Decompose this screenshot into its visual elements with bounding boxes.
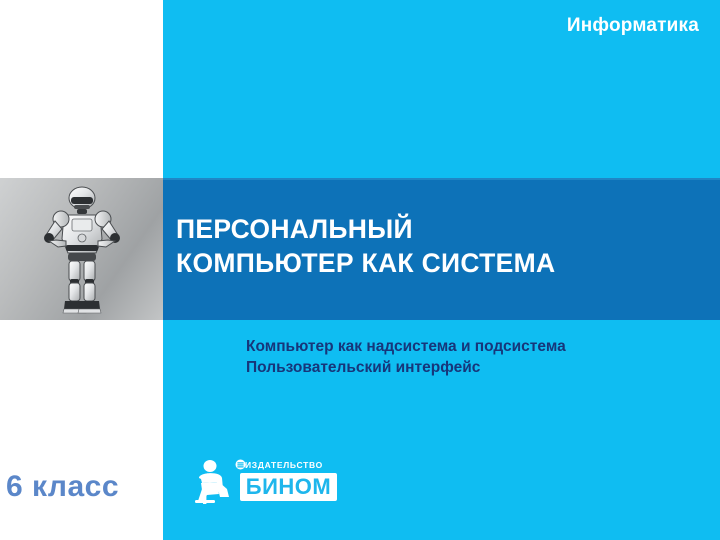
humanoid-robot-icon (22, 183, 142, 315)
publisher-logo: ИЗДАТЕЛЬСТВО БИНОМ (183, 456, 333, 512)
grade-label: 6 класс (6, 470, 119, 504)
brand-name: БИНОМ (240, 473, 337, 501)
presentation-slide: Информатика ПЕРСОНАЛЬНЫЙ КОМПЬЮТЕР КАК С… (0, 0, 720, 540)
seated-person-icon (183, 458, 239, 512)
subtitle: Компьютер как надсистема и подсистема По… (246, 336, 706, 378)
subject-title: Информатика (567, 15, 699, 37)
subtitle-line-1: Компьютер как надсистема и подсистема (246, 336, 706, 357)
page-title-line-2: КОМПЬЮТЕР КАК СИСТЕМА (176, 246, 706, 280)
title-band-top-edge (163, 178, 720, 180)
brand-plate: БИНОМ (240, 473, 337, 501)
robot-illustration-panel (0, 178, 163, 320)
publisher-word: ИЗДАТЕЛЬСТВО (245, 460, 323, 470)
page-title: ПЕРСОНАЛЬНЫЙ КОМПЬЮТЕР КАК СИСТЕМА (176, 212, 706, 280)
page-title-line-1: ПЕРСОНАЛЬНЫЙ (176, 212, 706, 246)
subtitle-line-2: Пользовательский интерфейс (246, 357, 706, 378)
